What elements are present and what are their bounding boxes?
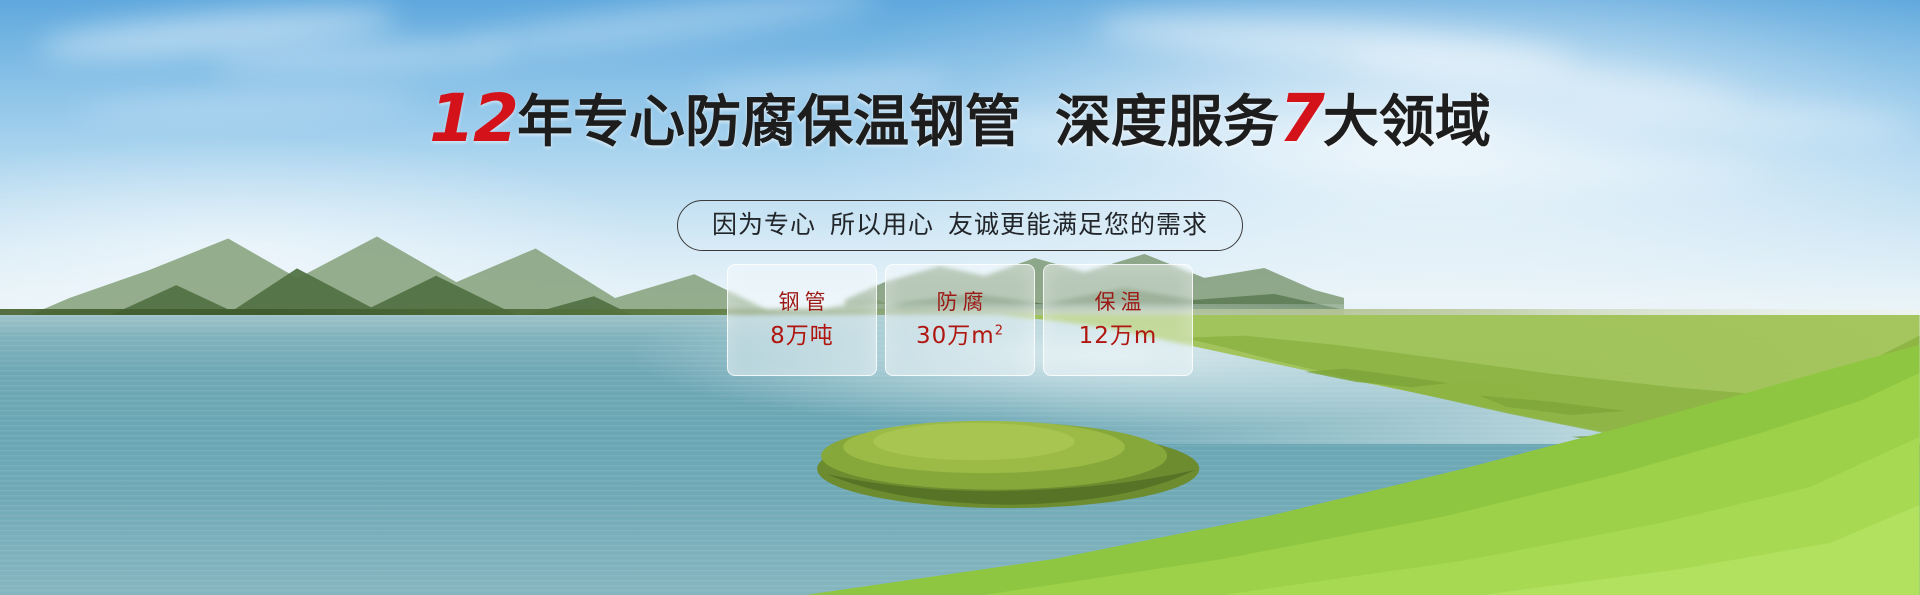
subtitle-part-3: 友诚更能满足您的需求 [948, 210, 1208, 239]
stat-card-steel-pipe: 钢管 8万吨 [727, 264, 877, 376]
headline-years-number: 12 [429, 80, 517, 157]
stat-card-label: 钢管 [774, 292, 831, 313]
stat-card-label: 保温 [1090, 292, 1147, 313]
stat-cards: 钢管 8万吨 防腐 30万m2 保温 12万m [0, 264, 1920, 376]
stat-card-value-text: 30万m [916, 323, 995, 349]
stat-card-value: 12万m [1079, 325, 1158, 348]
headline-main-text: 年专心防腐保温钢管 [517, 90, 1021, 155]
subtitle-pill: 因为专心所以用心友诚更能满足您的需求 [677, 200, 1243, 251]
subtitle-part-2: 所以用心 [830, 210, 934, 239]
headline-fields-text: 大领域 [1323, 90, 1491, 155]
subtitle-container: 因为专心所以用心友诚更能满足您的需求 [0, 200, 1920, 251]
subtitle-part-1: 因为专心 [712, 210, 816, 239]
stat-card-value: 8万吨 [770, 325, 834, 348]
stat-card-value-superscript: 2 [995, 323, 1004, 338]
stat-card-insulation: 保温 12万m [1043, 264, 1193, 376]
headline-fields-number: 7 [1279, 80, 1323, 157]
stat-card-anticorrosion: 防腐 30万m2 [885, 264, 1035, 376]
stat-card-value-text: 8万吨 [770, 323, 834, 349]
banner-content: 12年专心防腐保温钢管深度服务7大领域 因为专心所以用心友诚更能满足您的需求 钢… [0, 0, 1920, 595]
headline: 12年专心防腐保温钢管深度服务7大领域 [0, 86, 1920, 152]
headline-service-text: 深度服务 [1055, 90, 1279, 155]
promo-banner: 12年专心防腐保温钢管深度服务7大领域 因为专心所以用心友诚更能满足您的需求 钢… [0, 0, 1920, 595]
stat-card-value-text: 12万m [1079, 323, 1158, 349]
stat-card-value: 30万m2 [916, 325, 1004, 348]
stat-card-label: 防腐 [932, 292, 989, 313]
